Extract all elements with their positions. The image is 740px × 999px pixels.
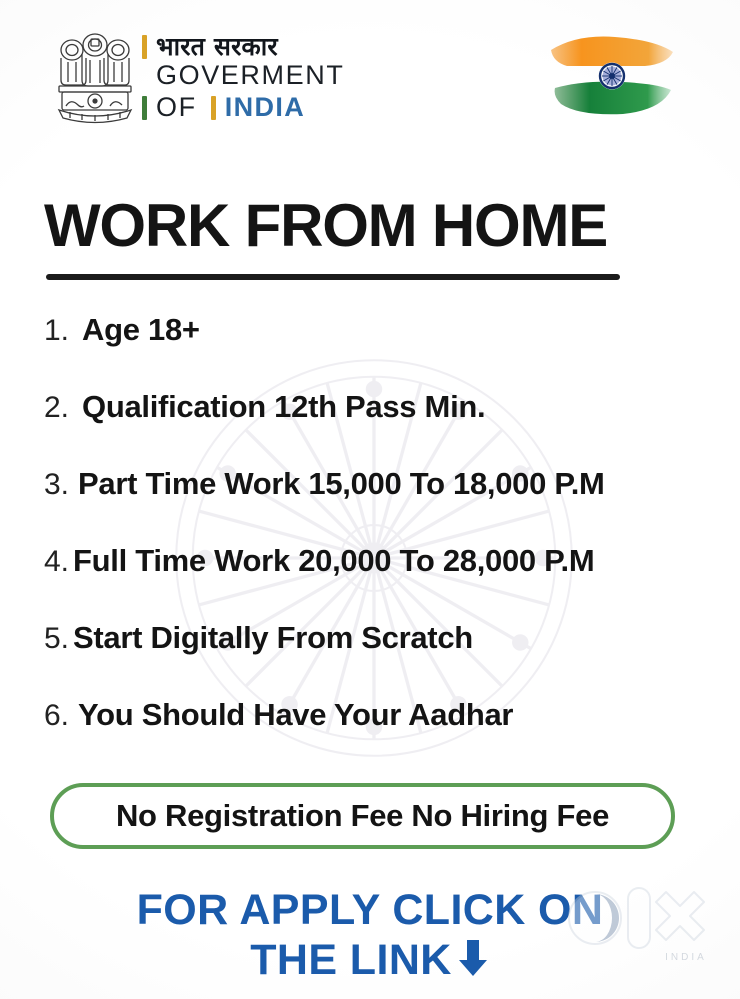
list-item-number: 1. (44, 314, 69, 348)
list-item-label: Part Time Work 15,000 To 18,000 P.M (78, 466, 605, 502)
hindi-title-row: भारत सरकार (142, 34, 344, 60)
requirements-list: 1. Age 18+ 2. Qualification 12th Pass Mi… (44, 312, 704, 774)
poster-canvas: भारत सरकार GOVERMENT OF INDIA (0, 0, 740, 999)
list-item-label: Start Digitally From Scratch (73, 620, 473, 656)
list-item-label: Full Time Work 20,000 To 28,000 P.M (73, 543, 594, 579)
list-item: 6. You Should Have Your Aadhar (44, 697, 704, 774)
ashoka-lion-capital-emblem-icon (52, 28, 138, 128)
no-fee-badge-label: No Registration Fee No Hiring Fee (116, 798, 609, 834)
saffron-accent-bar-2 (211, 96, 216, 120)
india-word: INDIA (225, 92, 306, 123)
list-item-label: Qualification 12th Pass Min. (82, 389, 485, 425)
list-item-number: 5. (44, 622, 69, 656)
saffron-accent-bar (142, 35, 147, 59)
green-accent-bar (142, 96, 147, 120)
list-item: 1. Age 18+ (44, 312, 704, 389)
list-item-label: You Should Have Your Aadhar (78, 697, 513, 733)
list-item: 3. Part Time Work 15,000 To 18,000 P.M (44, 466, 704, 543)
arrow-down-icon (456, 938, 490, 978)
hindi-title: भारत सरकार (156, 34, 278, 60)
english-title-row: GOVERMENT (142, 60, 344, 90)
no-fee-badge: No Registration Fee No Hiring Fee (50, 783, 675, 849)
title-underline-rule (46, 274, 620, 280)
cta-line-2: THE LINK (250, 936, 451, 984)
list-item-number: 4. (44, 545, 69, 579)
list-item: 5. Start Digitally From Scratch (44, 620, 704, 697)
cta-line-1: FOR APPLY CLICK ON (0, 886, 740, 936)
list-item: 4. Full Time Work 20,000 To 28,000 P.M (44, 543, 704, 620)
cta-line-2-wrap: THE LINK (0, 936, 740, 986)
list-item-number: 2. (44, 391, 69, 425)
india-flag-icon (537, 28, 687, 126)
list-item: 2. Qualification 12th Pass Min. (44, 389, 704, 466)
government-header: भारत सरकार GOVERMENT OF INDIA (0, 0, 740, 150)
government-wordmark: भारत सरकार GOVERMENT OF INDIA (142, 34, 344, 123)
call-to-action[interactable]: FOR APPLY CLICK ON THE LINK (0, 886, 740, 986)
page-title: WORK FROM HOME (44, 196, 607, 256)
of-word: OF (156, 92, 197, 123)
of-india-row: OF INDIA (142, 92, 344, 123)
list-item-label: Age 18+ (82, 312, 200, 348)
list-item-number: 3. (44, 468, 69, 502)
list-item-number: 6. (44, 699, 69, 733)
english-title: GOVERMENT (156, 60, 344, 90)
